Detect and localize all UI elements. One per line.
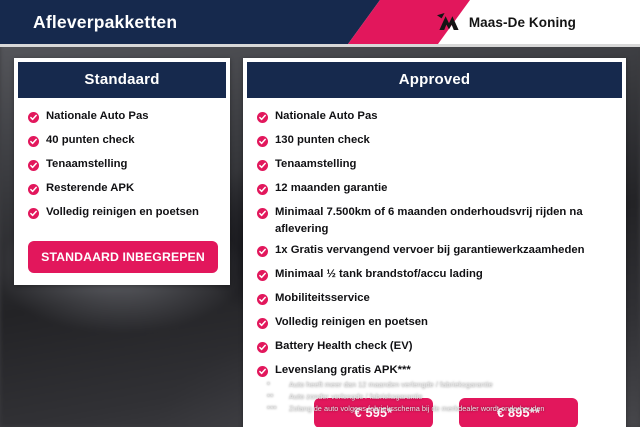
feature-item: Volledig reinigen en poetsen xyxy=(28,204,218,224)
footnote-item: **Auto zonder verlengde / fabrieksgarant… xyxy=(267,391,627,403)
feature-item: Nationale Auto Pas xyxy=(257,108,614,128)
package-card-standaard: Standaard Nationale Auto Pas40 punten ch… xyxy=(14,58,230,285)
footnote-item: ***Zolang de auto volgens fabrieksschema… xyxy=(267,403,627,415)
header-divider xyxy=(0,44,640,47)
footnote-text: Zolang de auto volgens fabrieksschema bi… xyxy=(289,403,545,415)
feature-item: Minimaal 7.500km of 6 maanden onderhouds… xyxy=(257,204,614,238)
card-title-standaard: Standaard xyxy=(18,62,226,98)
check-circle-icon xyxy=(257,268,268,286)
footnote-marker: ** xyxy=(267,391,283,403)
feature-item: 1x Gratis vervangend vervoer bij garanti… xyxy=(257,242,614,262)
feature-label: Volledig reinigen en poetsen xyxy=(46,204,199,221)
feature-item: Tenaamstelling xyxy=(257,156,614,176)
footnote-text: Auto heeft meer dan 12 maanden verlengde… xyxy=(289,379,493,391)
footnote-marker: *** xyxy=(267,403,283,415)
feature-label: Resterende APK xyxy=(46,180,134,197)
check-circle-icon xyxy=(257,182,268,200)
footnote-marker: * xyxy=(267,379,283,391)
feature-label: Tenaamstelling xyxy=(275,156,356,173)
feature-item: Volledig reinigen en poetsen xyxy=(257,314,614,334)
check-circle-icon xyxy=(257,110,268,128)
feature-item: Nationale Auto Pas xyxy=(28,108,218,128)
feature-item: Mobiliteitsservice xyxy=(257,290,614,310)
card-title-approved: Approved xyxy=(247,62,622,98)
feature-label: 130 punten check xyxy=(275,132,370,149)
feature-label: Levenslang gratis APK*** xyxy=(275,362,411,379)
card-body-approved: Nationale Auto Pas130 punten checkTenaam… xyxy=(243,98,626,427)
feature-item: Minimaal ½ tank brandstof/accu lading xyxy=(257,266,614,286)
feature-label: 40 punten check xyxy=(46,132,135,149)
check-circle-icon xyxy=(257,244,268,262)
maas-de-koning-logo-icon xyxy=(436,13,462,31)
standaard-inbegrepen-button[interactable]: STANDAARD INBEGREPEN xyxy=(28,241,218,273)
feature-item: Battery Health check (EV) xyxy=(257,338,614,358)
feature-list-standaard: Nationale Auto Pas40 punten checkTenaams… xyxy=(28,108,218,224)
check-circle-icon xyxy=(257,292,268,310)
feature-label: 12 maanden garantie xyxy=(275,180,387,197)
check-circle-icon xyxy=(28,206,39,224)
feature-label: Minimaal 7.500km of 6 maanden onderhouds… xyxy=(275,204,614,238)
feature-label: Minimaal ½ tank brandstof/accu lading xyxy=(275,266,483,283)
feature-item: Resterende APK xyxy=(28,180,218,200)
brand-lockup: Maas-De Koning xyxy=(436,0,576,44)
footnotes: *Auto heeft meer dan 12 maanden verlengd… xyxy=(267,379,627,414)
check-circle-icon xyxy=(257,158,268,176)
feature-item: 40 punten check xyxy=(28,132,218,152)
feature-label: Battery Health check (EV) xyxy=(275,338,413,355)
feature-list-approved: Nationale Auto Pas130 punten checkTenaam… xyxy=(257,108,614,382)
check-circle-icon xyxy=(28,158,39,176)
card-body-standaard: Nationale Auto Pas40 punten checkTenaams… xyxy=(14,98,230,285)
check-circle-icon xyxy=(257,316,268,334)
feature-label: Tenaamstelling xyxy=(46,156,127,173)
check-circle-icon xyxy=(28,182,39,200)
check-circle-icon xyxy=(28,134,39,152)
feature-item: Tenaamstelling xyxy=(28,156,218,176)
brand-name: Maas-De Koning xyxy=(469,15,576,30)
feature-label: 1x Gratis vervangend vervoer bij garanti… xyxy=(275,242,585,259)
package-card-approved: Approved Nationale Auto Pas130 punten ch… xyxy=(243,58,626,427)
check-circle-icon xyxy=(28,110,39,128)
page-title: Afleverpakketten xyxy=(33,0,177,44)
feature-label: Volledig reinigen en poetsen xyxy=(275,314,428,331)
check-circle-icon xyxy=(257,206,268,224)
page-header: Afleverpakketten Maas-De Koning xyxy=(0,0,640,44)
footnote-item: *Auto heeft meer dan 12 maanden verlengd… xyxy=(267,379,627,391)
check-circle-icon xyxy=(257,340,268,358)
check-circle-icon xyxy=(257,134,268,152)
footnote-text: Auto zonder verlengde / fabrieksgarantie xyxy=(289,391,422,403)
feature-item: 130 punten check xyxy=(257,132,614,152)
feature-label: Nationale Auto Pas xyxy=(275,108,378,125)
feature-label: Nationale Auto Pas xyxy=(46,108,149,125)
feature-item: 12 maanden garantie xyxy=(257,180,614,200)
feature-label: Mobiliteitsservice xyxy=(275,290,370,307)
